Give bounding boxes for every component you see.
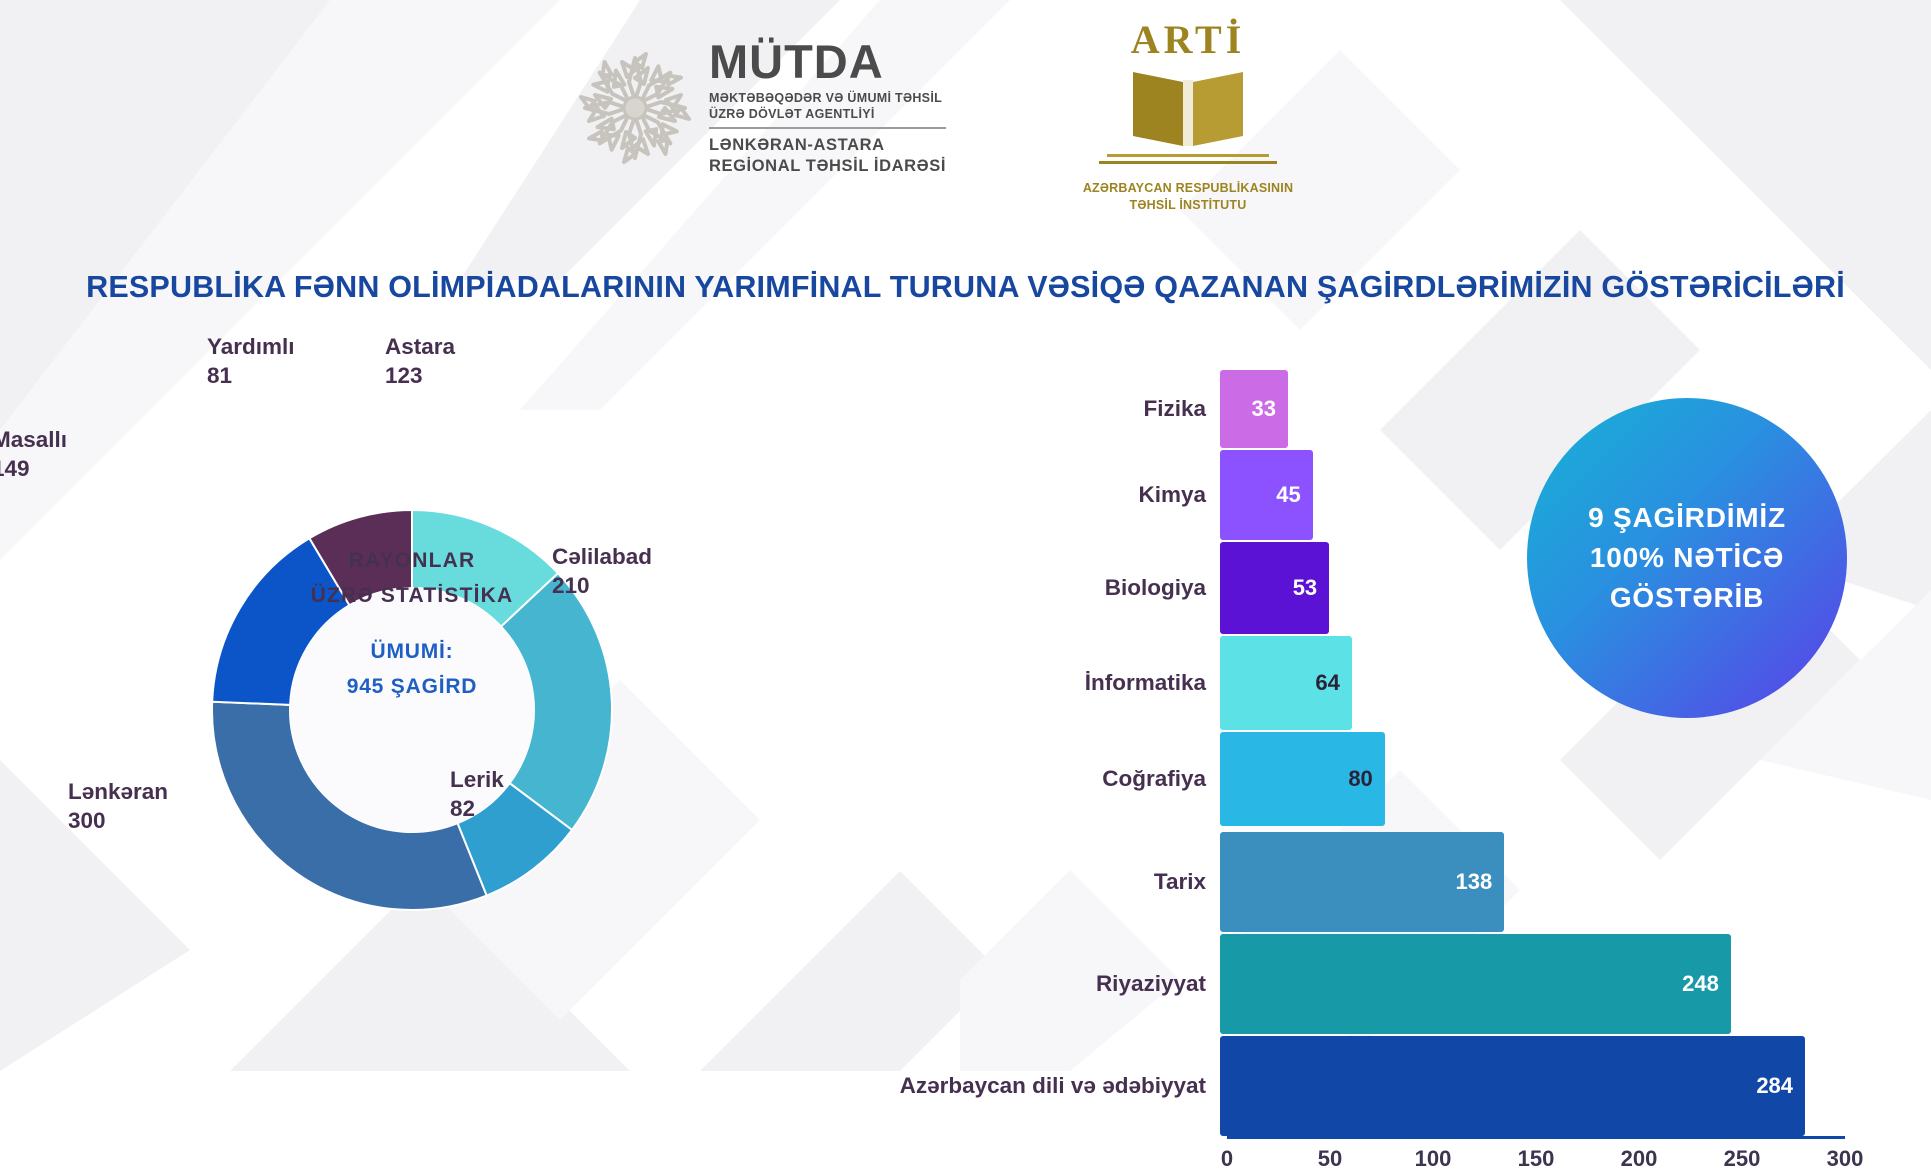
donut-label-masallı: Masallı149 — [0, 425, 67, 484]
donut-label-lerik: Lerik82 — [450, 765, 504, 824]
mutda-divider — [709, 127, 946, 129]
arti-divider — [1099, 152, 1277, 168]
arti-subtitle-line2: TƏHSİL İNSTİTUTU — [1130, 198, 1247, 212]
bar-fizika[interactable]: 33 — [1220, 370, 1288, 448]
donut-label-cəlilabad: Cəlilabad210 — [552, 542, 652, 601]
bar-category-label: İnformatika — [820, 670, 1220, 696]
donut-label-name: Masallı — [0, 427, 67, 452]
mutda-subtitle-line2: ÜZRƏ DÖVLƏT AGENTLİYİ — [709, 107, 875, 121]
page-title: RESPUBLİKA FƏNN OLİMPİADALARININ YARIMFİ… — [0, 270, 1931, 305]
x-axis-tick: 0 — [1221, 1146, 1233, 1172]
bar-category-label: Biologiya — [820, 575, 1220, 601]
mutda-region-line1: LƏNKƏRAN-ASTARA — [709, 136, 885, 154]
donut-label-name: Lənkəran — [68, 779, 168, 804]
x-axis-tick: 100 — [1415, 1146, 1452, 1172]
bar-riyaziyyat[interactable]: 248 — [1220, 934, 1731, 1034]
x-axis-tick: 250 — [1724, 1146, 1761, 1172]
bar-category-label: Kimya — [820, 482, 1220, 508]
bar-coğrafiya[interactable]: 80 — [1220, 732, 1385, 826]
bar-row[interactable]: Riyaziyyat248 — [820, 934, 1731, 1034]
bar-value-label: 284 — [1756, 1073, 1805, 1099]
bar-category-label: Riyaziyyat — [820, 971, 1220, 997]
donut-label-value: 123 — [385, 361, 455, 390]
bar-value-label: 53 — [1293, 575, 1329, 601]
donut-label-name: Cəlilabad — [552, 544, 652, 569]
bar-row[interactable]: İnformatika64 — [820, 636, 1352, 730]
donut-label-value: 300 — [68, 806, 168, 835]
donut-center-line3: ÜMUMİ: — [371, 640, 454, 663]
donut-center-line2: ÜZRƏ STATİSTİKA — [311, 584, 514, 607]
arti-wordmark: ARTİ — [1068, 20, 1308, 60]
bar-row[interactable]: Kimya45 — [820, 450, 1313, 540]
bar-value-label: 64 — [1315, 670, 1351, 696]
bar-category-label: Tarix — [820, 869, 1220, 895]
donut-label-value: 81 — [207, 361, 295, 390]
donut-label-lənkəran: Lənkəran300 — [68, 777, 168, 836]
badge-line1: 9 ŞAGİRDİMİZ — [1588, 498, 1786, 538]
donut-label-name: Lerik — [450, 767, 504, 792]
donut-svg: RAYONLAR ÜZRƏ STATİSTİKA ÜMUMİ: 945 ŞAGİ… — [0, 380, 900, 1060]
districts-donut-chart: RAYONLAR ÜZRƏ STATİSTİKA ÜMUMİ: 945 ŞAGİ… — [0, 380, 900, 1060]
achievement-badge: 9 ŞAGİRDİMİZ 100% NƏTİCƏ GÖSTƏRİB — [1527, 398, 1847, 718]
bar-i̇nformatika[interactable]: 64 — [1220, 636, 1352, 730]
header-logos: MÜTDA MƏKTƏBƏQƏDƏR VƏ ÜMUMİ TƏHSİL ÜZRƏ … — [0, 0, 1931, 230]
bar-azərbaycan[interactable]: 284 — [1220, 1036, 1805, 1136]
mutda-wordmark: MÜTDA — [709, 38, 946, 85]
bar-biologiya[interactable]: 53 — [1220, 542, 1329, 634]
mutda-logo: MÜTDA MƏKTƏBƏQƏDƏR VƏ ÜMUMİ TƏHSİL ÜZRƏ … — [575, 38, 946, 178]
bar-value-label: 80 — [1348, 766, 1384, 792]
donut-label-value: 149 — [0, 454, 67, 483]
bar-category-label: Azərbaycan dili və ədəbiyyat — [820, 1073, 1220, 1099]
donut-center-line1: RAYONLAR — [349, 549, 476, 572]
bar-kimya[interactable]: 45 — [1220, 450, 1313, 540]
x-axis-tick: 300 — [1827, 1146, 1864, 1172]
bar-value-label: 45 — [1276, 482, 1312, 508]
bar-category-label: Coğrafiya — [820, 766, 1220, 792]
open-book-icon — [1129, 66, 1247, 148]
badge-line2: 100% NƏTİCƏ — [1590, 538, 1784, 578]
donut-label-name: Astara — [385, 334, 455, 359]
x-axis-line — [1227, 1136, 1845, 1139]
arti-subtitle-line1: AZƏRBAYCAN RESPUBLİKASININ — [1083, 181, 1293, 195]
x-axis-tick: 200 — [1621, 1146, 1658, 1172]
bar-value-label: 138 — [1456, 869, 1505, 895]
arti-logo: ARTİ AZƏRBAYCAN RESPUBLİKASININ TƏHSİL İ… — [1068, 20, 1308, 214]
donut-label-astara: Astara123 — [385, 332, 455, 391]
bar-row[interactable]: Fizika33 — [820, 370, 1288, 448]
bar-row[interactable]: Coğrafiya80 — [820, 732, 1385, 826]
donut-label-name: Yardımlı — [207, 334, 295, 359]
bar-tarix[interactable]: 138 — [1220, 832, 1504, 932]
badge-line3: GÖSTƏRİB — [1610, 578, 1764, 618]
snowflake-ornament-icon — [575, 48, 695, 168]
x-axis-tick: 150 — [1518, 1146, 1555, 1172]
mutda-subtitle-line1: MƏKTƏBƏQƏDƏR VƏ ÜMUMİ TƏHSİL — [709, 91, 942, 105]
donut-label-value: 210 — [552, 571, 652, 600]
bar-category-label: Fizika — [820, 396, 1220, 422]
mutda-region-line2: REGİONAL TƏHSİL İDARƏSİ — [709, 157, 946, 175]
donut-label-value: 82 — [450, 794, 504, 823]
bar-row[interactable]: Biologiya53 — [820, 542, 1329, 634]
donut-label-yardımlı: Yardımlı81 — [207, 332, 295, 391]
bar-row[interactable]: Tarix138 — [820, 832, 1504, 932]
bar-value-label: 33 — [1251, 396, 1287, 422]
x-axis-tick: 50 — [1318, 1146, 1342, 1172]
donut-center-line4: 945 ŞAGİRD — [347, 675, 478, 698]
bar-row[interactable]: Azərbaycan dili və ədəbiyyat284 — [820, 1036, 1805, 1136]
bar-value-label: 248 — [1682, 971, 1731, 997]
